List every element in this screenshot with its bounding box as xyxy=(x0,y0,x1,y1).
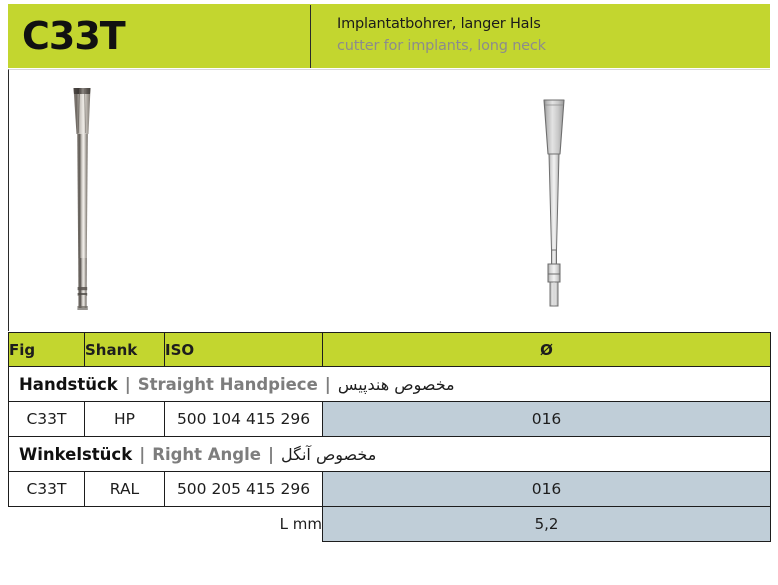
column-header-fig: Fig xyxy=(9,333,85,367)
section-label-separator-2: | xyxy=(268,445,274,464)
section-label-handstueck: Handstück | Straight Handpiece | مخصوص ه… xyxy=(19,375,770,394)
product-image-panel xyxy=(8,69,770,331)
section-label-cell-winkelstueck: Winkelstück | Right Angle | مخصوص آنگل xyxy=(9,437,771,472)
cell-diameter-ral: 016 xyxy=(323,472,771,507)
length-row: L mm 5,2 xyxy=(9,507,771,542)
cell-diameter-hp: 016 xyxy=(323,402,771,437)
column-header-iso: ISO xyxy=(165,333,323,367)
section-label-persian: مخصوص هندپیس xyxy=(338,375,455,394)
table-row: C33T HP 500 104 415 296 016 xyxy=(9,402,771,437)
section-header-handstueck: Handstück | Straight Handpiece | مخصوص ه… xyxy=(9,367,771,402)
length-spacer-2 xyxy=(85,507,165,542)
product-code-cell: C33T xyxy=(8,4,310,68)
length-value: 5,2 xyxy=(323,507,771,542)
section-label-german: Handstück xyxy=(19,375,118,394)
product-code: C33T xyxy=(22,17,125,55)
specification-table: Fig Shank ISO Ø Handstück | Straight Han… xyxy=(8,332,771,542)
product-title-german: Implantatbohrer, langer Hals xyxy=(337,14,770,36)
section-label-german: Winkelstück xyxy=(19,445,132,464)
table-row: C33T RAL 500 205 415 296 016 xyxy=(9,472,771,507)
section-label-winkelstueck: Winkelstück | Right Angle | مخصوص آنگل xyxy=(19,445,770,464)
cell-shank-ral: RAL xyxy=(85,472,165,507)
section-label-cell-handstueck: Handstück | Straight Handpiece | مخصوص ه… xyxy=(9,367,771,402)
product-header: C33T Implantatbohrer, langer Hals cutter… xyxy=(8,4,770,68)
product-datasheet-page: C33T Implantatbohrer, langer Hals cutter… xyxy=(0,0,778,585)
cell-iso-hp: 500 104 415 296 xyxy=(165,402,323,437)
column-header-diameter: Ø xyxy=(323,333,771,367)
column-header-shank: Shank xyxy=(85,333,165,367)
bur-technical-drawing xyxy=(514,92,604,310)
cell-shank-hp: HP xyxy=(85,402,165,437)
section-label-persian: مخصوص آنگل xyxy=(281,445,376,464)
length-label: L mm xyxy=(165,507,323,542)
section-label-separator-2: | xyxy=(325,375,331,394)
cell-iso-ral: 500 205 415 296 xyxy=(165,472,323,507)
section-label-separator-1: | xyxy=(125,375,131,394)
cell-fig-hp: C33T xyxy=(9,402,85,437)
section-header-winkelstueck: Winkelstück | Right Angle | مخصوص آنگل xyxy=(9,437,771,472)
product-title-english: cutter for implants, long neck xyxy=(337,36,770,58)
section-label-english: Right Angle xyxy=(152,445,261,464)
product-description-cell: Implantatbohrer, langer Hals cutter for … xyxy=(311,4,770,68)
bur-photo xyxy=(57,82,107,314)
cell-fig-ral: C33T xyxy=(9,472,85,507)
section-label-english: Straight Handpiece xyxy=(138,375,318,394)
table-header-row: Fig Shank ISO Ø xyxy=(9,333,771,367)
length-spacer-1 xyxy=(9,507,85,542)
section-label-separator-1: | xyxy=(139,445,145,464)
